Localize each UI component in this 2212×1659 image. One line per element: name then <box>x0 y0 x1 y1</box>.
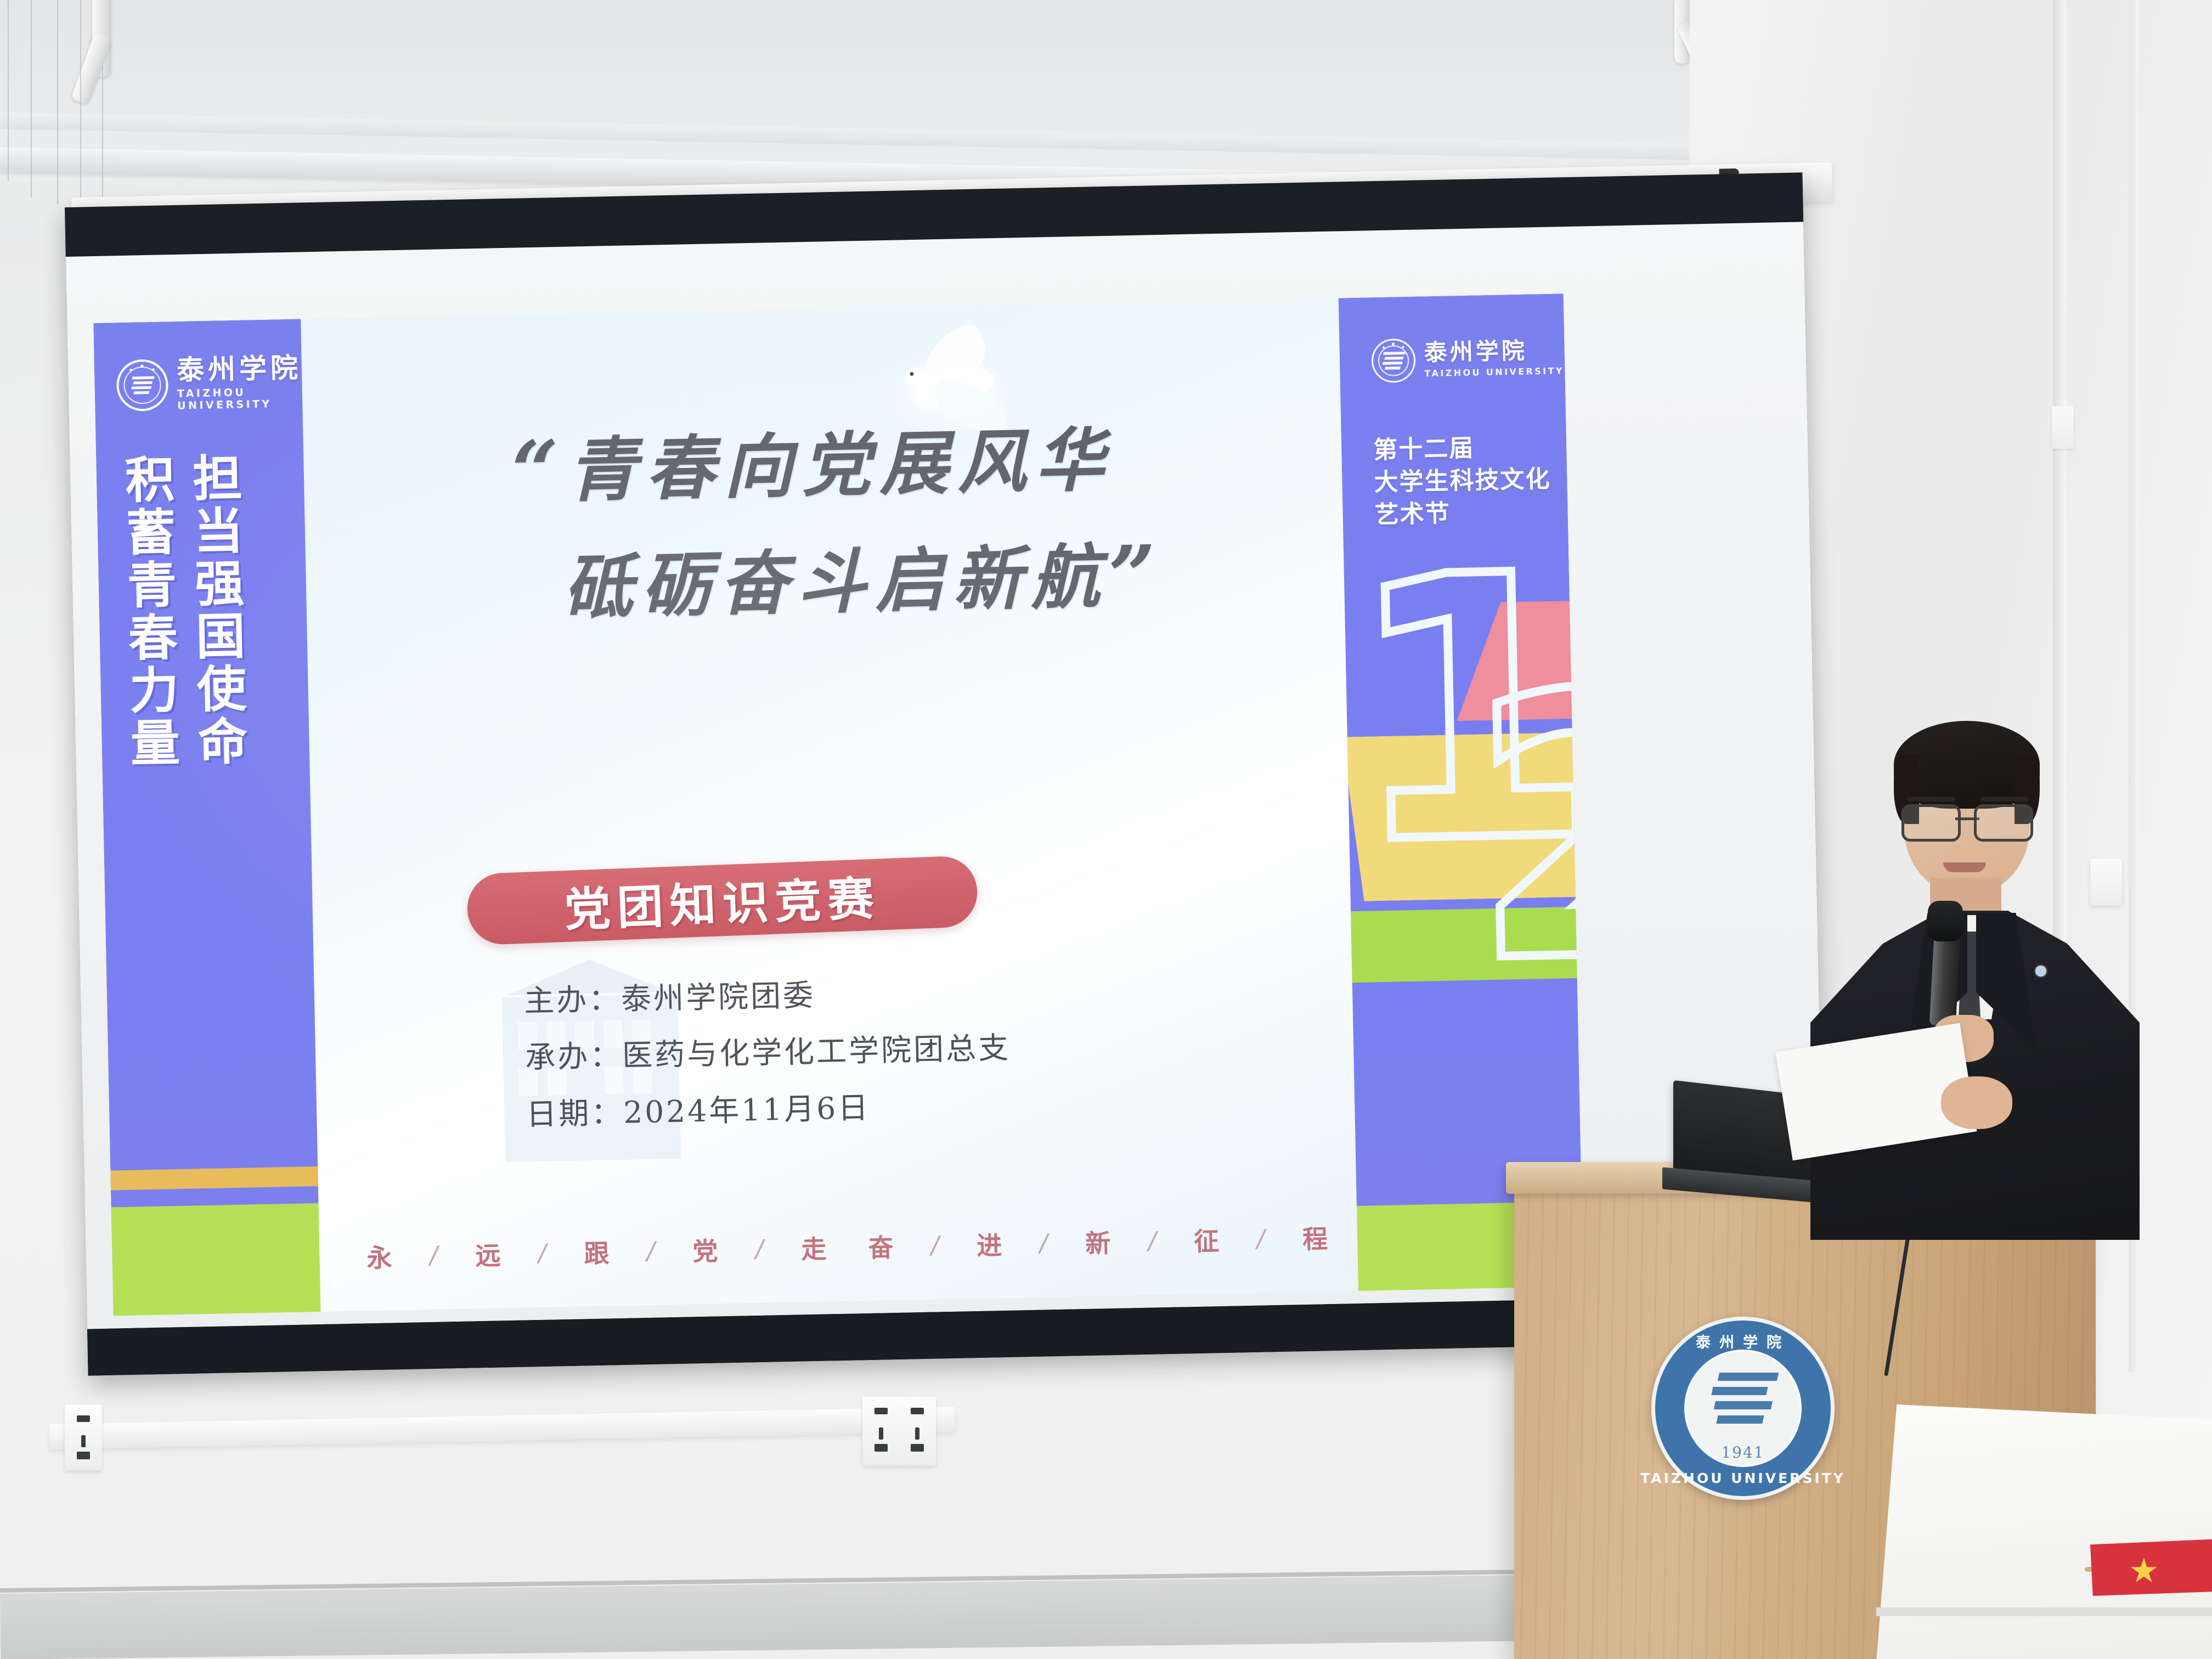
hanging-wire <box>102 66 103 214</box>
slogan-char: 永 <box>346 1238 413 1275</box>
power-outlet[interactable] <box>862 1397 936 1466</box>
slogan-separator: / <box>1023 1228 1065 1257</box>
lens-right <box>1974 804 2033 842</box>
outlet-slot <box>911 1444 924 1452</box>
slogan-char: 程 <box>1281 1218 1348 1256</box>
university-name-en: TAIZHOU UNIVERSITY <box>1424 365 1564 379</box>
slogan-separator: / <box>1131 1226 1173 1255</box>
hanging-wire <box>8 0 9 181</box>
outlet-slot <box>874 1444 888 1452</box>
meta-host: 承办：医药与化学化工学院团总支 <box>524 1020 1011 1086</box>
festival-line-2: 大学生科技文化 <box>1374 464 1551 499</box>
slogan-separator: / <box>1240 1224 1282 1253</box>
festival-line-1: 第十二届 <box>1373 431 1550 467</box>
title-text-1: 青春向党展风华 <box>567 419 1114 511</box>
slogan-char: 征 <box>1173 1221 1240 1258</box>
slogan-char: 党 <box>672 1231 739 1268</box>
wall-fixture-plate <box>2052 406 2074 449</box>
slogan-separator: / <box>413 1241 455 1270</box>
vertical-couplet: 担当强国使命 积蓄青春力量 <box>118 452 245 770</box>
slogan-char: 奋 <box>847 1227 915 1265</box>
hanging-wire <box>80 0 81 210</box>
lectern-university-seal: 泰州学院 1941 TAIZHOU UNIVERSITY <box>1651 1317 1835 1500</box>
couplet-right-column: 担当强国使命 <box>185 452 245 769</box>
outlet-slot <box>879 1427 883 1440</box>
university-logo-left: 泰州学院 TAIZHOU UNIVERSITY <box>116 354 303 413</box>
slogan-separator: / <box>738 1234 781 1263</box>
event-name-label: 党团知识竞赛 <box>563 861 882 940</box>
outlet-slot <box>77 1452 90 1459</box>
university-logo-right: 泰州学院 TAIZHOU UNIVERSITY <box>1371 335 1564 383</box>
seal-name-en: TAIZHOU UNIVERSITY <box>1640 1470 1846 1486</box>
meta-date: 日期：2024年11月6日 <box>526 1076 1012 1143</box>
side-desk-edge <box>1876 1607 2212 1616</box>
slide-left-band: 泰州学院 TAIZHOU UNIVERSITY 担当强国使命 积蓄青春力量 <box>93 319 319 1231</box>
presentation-slide: 泰州学院 TAIZHOU UNIVERSITY 担当强国使命 积蓄青春力量 <box>93 294 1583 1316</box>
seal-founding-year: 1941 <box>1721 1443 1764 1462</box>
slogan-char: 跟 <box>563 1233 630 1271</box>
event-name-badge: 党团知识竞赛 <box>466 855 978 946</box>
slogan-char: 远 <box>454 1235 522 1273</box>
slide-meta-block: 主办：泰州学院团委 承办：医药与化学化工学院团总支 日期：2024年11月6日 <box>523 963 1012 1143</box>
outlet-slot <box>874 1408 888 1414</box>
slogan-char: 进 <box>956 1225 1023 1262</box>
seal-wave-mark <box>129 375 156 395</box>
outlet-slot <box>81 1435 86 1447</box>
power-outlet[interactable] <box>65 1404 102 1470</box>
quote-open: “ <box>511 422 569 520</box>
presenter-eyebrow-left <box>1907 797 1955 802</box>
side-desk <box>1876 1404 2212 1659</box>
seal-wave-mark <box>1704 1373 1782 1430</box>
eyeglasses-icon <box>1901 804 2033 837</box>
slogan-separator: / <box>521 1239 563 1268</box>
hanging-wire <box>57 0 58 204</box>
lapel-pin <box>2035 966 2046 977</box>
footer-slogan-bar: 永 / 远 / 跟 / 党 / 走 奋 / 进 / 新 / 征 / <box>111 1178 1583 1316</box>
university-seal-icon <box>1371 338 1416 383</box>
slogan-char: 走 <box>780 1229 848 1266</box>
slide-title-line-1: “青春向党展风华 <box>309 397 1316 534</box>
outlet-slot <box>77 1415 90 1422</box>
lens-left <box>1901 804 1961 842</box>
numeral-digit-2: 2 <box>1467 686 1582 973</box>
university-name-cn: 泰州学院 <box>1424 338 1564 364</box>
couplet-left-column: 积蓄青春力量 <box>118 453 178 770</box>
dove-eye <box>910 372 913 376</box>
outlet-slot <box>915 1427 919 1440</box>
slogan-char: 新 <box>1064 1223 1132 1260</box>
presenter-hand-holding-paper <box>1941 1076 2012 1129</box>
quote-close: ” <box>1108 527 1166 625</box>
edition-numeral-graphic: 1 2 <box>1339 550 1582 973</box>
title-text-2: 砥砺奋斗启新航 <box>562 536 1109 628</box>
outlet-slot <box>911 1408 924 1414</box>
seal-name-cn: 泰州学院 <box>1696 1330 1790 1352</box>
microphone-head <box>1928 901 1963 941</box>
presenter-eyebrow-right <box>1980 797 2029 802</box>
slide-right-band: 泰州学院 TAIZHOU UNIVERSITY 第十二届 大学生科技文化 艺术节 <box>1339 294 1582 1206</box>
hanging-wire <box>31 0 32 198</box>
presenter <box>1799 708 2151 1234</box>
slogan-separator: / <box>914 1231 956 1260</box>
seal-wave-mark <box>1380 351 1407 371</box>
slogan-separator: / <box>630 1237 672 1266</box>
presenter-mouth <box>1943 862 1986 872</box>
slide-title-line-2: 砥砺奋斗启新航” <box>312 514 1318 651</box>
university-name-cn: 泰州学院 <box>176 354 302 384</box>
meta-organizer: 主办：泰州学院团委 <box>523 963 1010 1030</box>
university-seal-icon <box>116 359 169 411</box>
slide-strip-yellow <box>110 1166 318 1190</box>
photo-scene: SEEMNCE 泰州学院 TAIZHOU UNIVERSITY <box>0 0 2212 1659</box>
slide-title-block: “青春向党展风华 砥砺奋斗启新航” <box>309 397 1318 651</box>
university-name-en: TAIZHOU UNIVERSITY <box>177 385 303 412</box>
